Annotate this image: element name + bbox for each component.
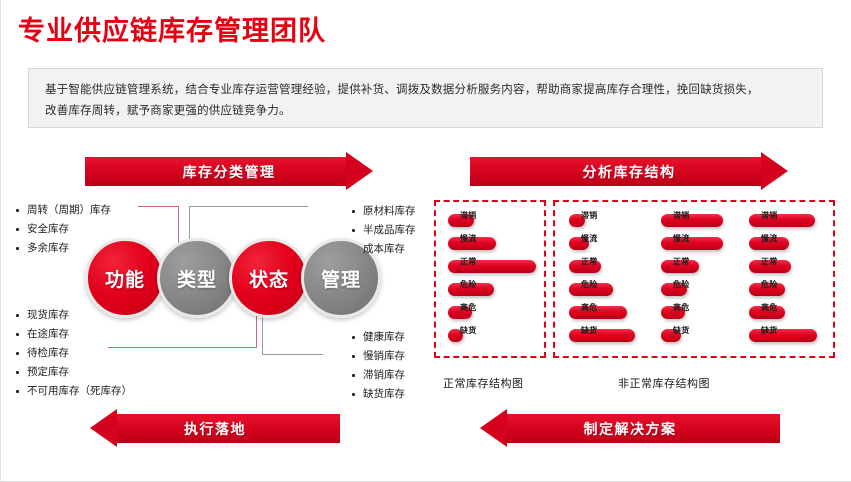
arrow-solution-plan[interactable]: 制定解决方案: [480, 414, 780, 443]
bar-滞销: 滞销: [448, 214, 474, 227]
bar-label: 缺货: [761, 325, 778, 336]
arrow-label: 执行落地: [184, 419, 246, 439]
list-item: 周转（周期）库存: [14, 201, 111, 220]
list-item: 慢销库存: [350, 347, 405, 366]
bar-label: 高危: [761, 302, 778, 313]
bar-危险: 危险: [749, 283, 785, 296]
arrow-head-icon: [480, 409, 507, 447]
intro-description-box: 基于智能供应链管理系统，结合专业库存运营管理经验，提供补货、调拨及数据分析服务内…: [28, 68, 823, 128]
bar-缺货: 缺货: [569, 329, 635, 342]
bullet-list-management: 健康库存 慢销库存 滞销库存 缺货库存: [350, 328, 405, 404]
bar-label: 缺货: [460, 325, 477, 336]
bar-label: 慢流: [460, 233, 477, 244]
bar-慢流: 慢流: [749, 237, 789, 250]
list-item: 在途库存: [14, 325, 132, 344]
bar-label: 慢流: [761, 233, 778, 244]
bar-label: 滞销: [460, 210, 477, 221]
bar-label: 正常: [581, 256, 598, 267]
bar-缺货: 缺货: [448, 329, 463, 342]
bar-慢流: 慢流: [661, 237, 723, 250]
bar-label: 正常: [761, 256, 778, 267]
bar-高危: 高危: [569, 306, 627, 319]
arrow-label: 分析库存结构: [583, 162, 676, 182]
bar-高危: 高危: [749, 306, 785, 319]
list-item: 缺货库存: [350, 385, 405, 404]
bar-label: 高危: [673, 302, 690, 313]
bar-label: 滞销: [581, 210, 598, 221]
bar-label: 正常: [460, 256, 477, 267]
bar-正常: 正常: [661, 260, 699, 273]
bar-慢流: 慢流: [448, 237, 496, 250]
bar-label: 慢流: [581, 233, 598, 244]
bar-危险: 危险: [661, 283, 687, 296]
bar-滞销: 滞销: [749, 214, 815, 227]
bar-label: 缺货: [581, 325, 598, 336]
arrow-head-icon: [90, 409, 117, 447]
bar-label: 危险: [581, 279, 598, 290]
circle-status[interactable]: 状态: [229, 238, 309, 318]
list-item: 现货库存: [14, 306, 132, 325]
bar-滞销: 滞销: [569, 214, 585, 227]
caption-abnormal-structure: 非正常库存结构图: [618, 375, 710, 391]
bar-label: 慢流: [673, 233, 690, 244]
arrow-analyze-structure[interactable]: 分析库存结构: [470, 157, 788, 186]
bar-正常: 正常: [749, 260, 791, 273]
list-item: 滞销库存: [350, 366, 405, 385]
list-item: 预定库存: [14, 363, 132, 382]
bar-label: 缺货: [673, 325, 690, 336]
intro-line-2: 改善库存周转，赋予商家更强的供应链竞争力。: [45, 101, 806, 122]
bar-label: 危险: [761, 279, 778, 290]
bar-危险: 危险: [448, 283, 494, 296]
page-title: 专业供应链库存管理团队: [18, 17, 326, 47]
abnormal-structure-box: 滞销慢流正常危险高危缺货 滞销慢流正常危险高危缺货 滞销慢流正常危险高危缺货: [553, 200, 835, 358]
list-item: 不可用库存（死库存）: [14, 382, 132, 401]
list-item: 安全库存: [14, 220, 111, 239]
bar-滞销: 滞销: [661, 214, 723, 227]
arrow-label: 库存分类管理: [183, 162, 276, 182]
bar-高危: 高危: [448, 306, 472, 319]
list-item: 健康库存: [350, 328, 405, 347]
arrow-label: 制定解决方案: [584, 419, 677, 439]
arrow-execution[interactable]: 执行落地: [90, 414, 340, 443]
list-item: 多余库存: [14, 239, 111, 258]
bar-正常: 正常: [448, 260, 536, 273]
list-item: 半成品库存: [350, 221, 416, 240]
bar-column-abnormal-3: 滞销慢流正常危险高危缺货: [749, 214, 829, 348]
normal-structure-box: 滞销慢流正常危险高危缺货: [434, 200, 546, 358]
circle-type[interactable]: 类型: [157, 238, 237, 318]
arrow-head-icon: [346, 152, 373, 190]
caption-normal-structure: 正常库存结构图: [443, 375, 524, 391]
bar-慢流: 慢流: [569, 237, 589, 250]
bar-column-abnormal-1: 滞销慢流正常危险高危缺货: [569, 214, 649, 348]
list-item: 待检库存: [14, 344, 132, 363]
bar-label: 滞销: [673, 210, 690, 221]
bar-缺货: 缺货: [749, 329, 817, 342]
bar-label: 高危: [581, 302, 598, 313]
arrow-head-icon: [761, 152, 788, 190]
list-item: 成本库存: [350, 240, 416, 259]
bullet-list-function: 周转（周期）库存 安全库存 多余库存: [14, 201, 111, 258]
bar-label: 危险: [673, 279, 690, 290]
bullet-list-status: 现货库存 在途库存 待检库存 预定库存 不可用库存（死库存）: [14, 306, 132, 401]
arrow-inventory-classification[interactable]: 库存分类管理: [85, 157, 373, 186]
bar-高危: 高危: [661, 306, 685, 319]
bar-缺货: 缺货: [661, 329, 681, 342]
bar-label: 危险: [460, 279, 477, 290]
slide-canvas: 专业供应链库存管理团队 基于智能供应链管理系统，结合专业库存运营管理经验，提供补…: [0, 0, 851, 482]
list-item: 原材料库存: [350, 202, 416, 221]
bar-label: 滞销: [761, 210, 778, 221]
bar-危险: 危险: [569, 283, 613, 296]
bullet-list-type: 原材料库存 半成品库存 成本库存: [350, 202, 416, 259]
bar-label: 正常: [673, 256, 690, 267]
bar-正常: 正常: [569, 260, 601, 273]
bar-column-abnormal-2: 滞销慢流正常危险高危缺货: [661, 214, 741, 348]
bar-column-normal: 滞销慢流正常危险高危缺货: [448, 214, 540, 348]
intro-line-1: 基于智能供应链管理系统，结合专业库存运营管理经验，提供补货、调拨及数据分析服务内…: [45, 80, 806, 101]
bar-label: 高危: [460, 302, 477, 313]
